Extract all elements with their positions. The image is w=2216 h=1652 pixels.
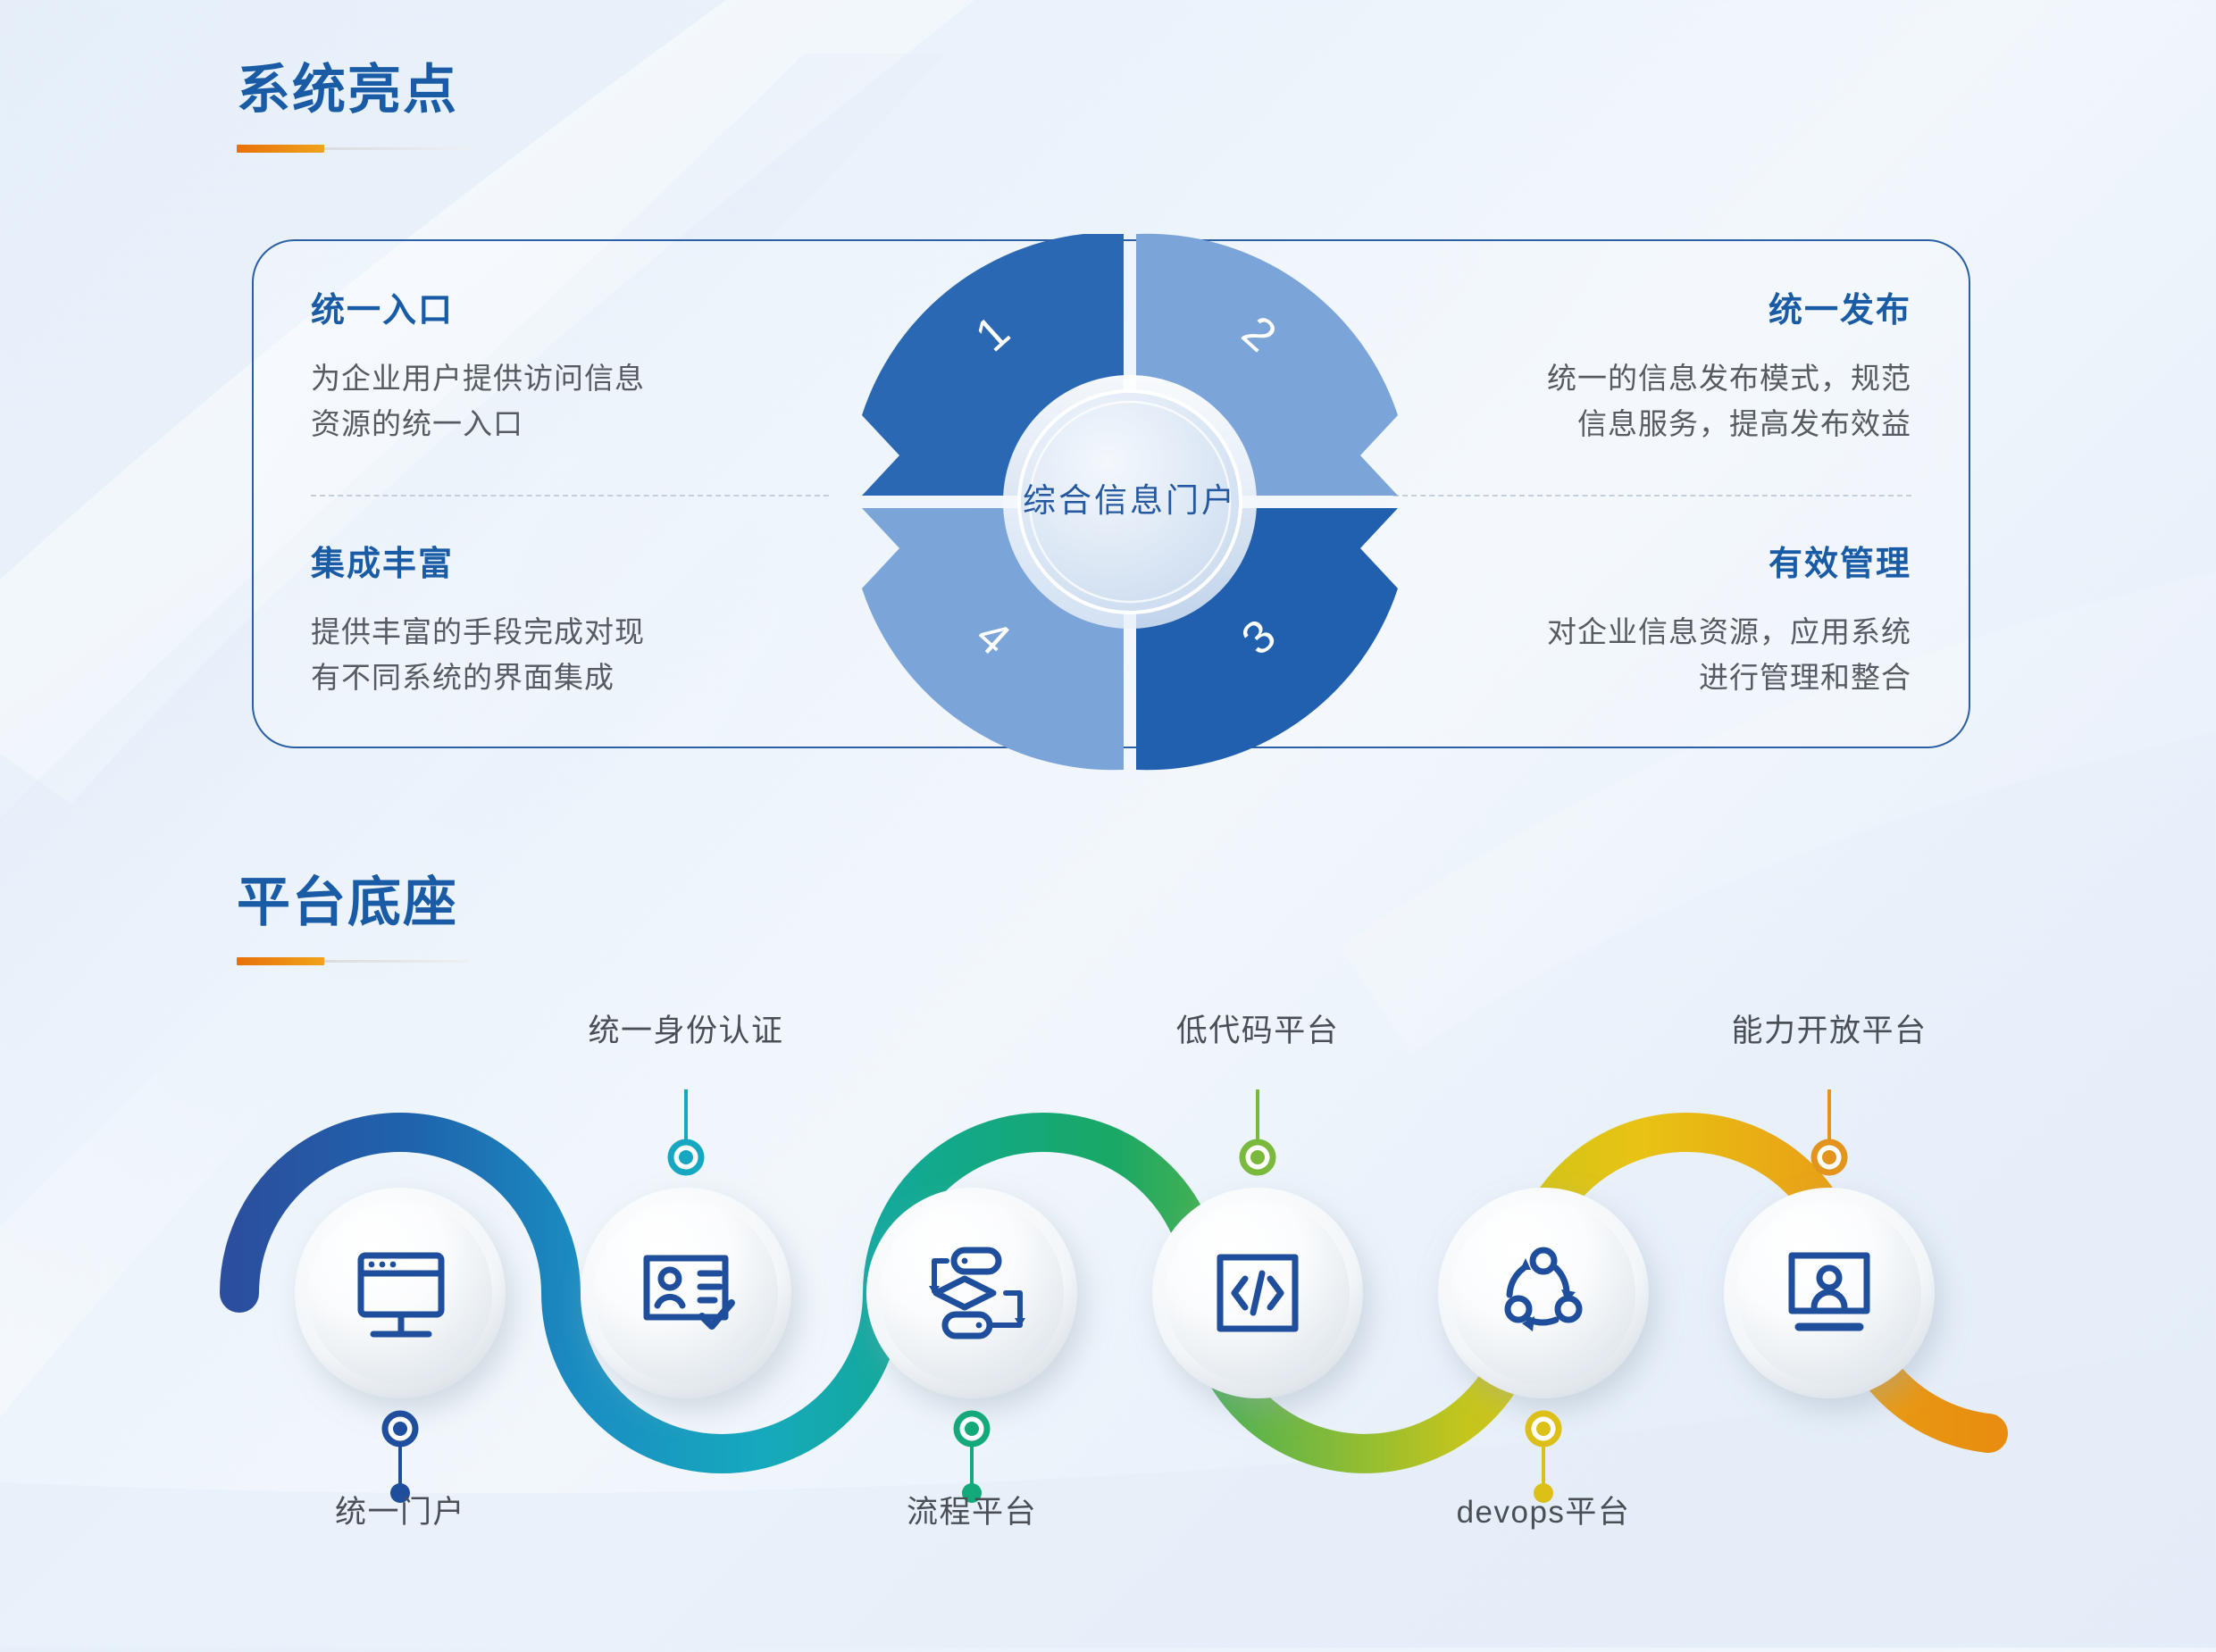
underline-tail xyxy=(324,147,469,150)
platform-node-label-3: 流程平台 xyxy=(907,1487,1037,1532)
platform-node-label-6: 能力开放平台 xyxy=(1731,1005,1927,1051)
platform-node-2[interactable] xyxy=(581,1089,791,1398)
platform-node-5[interactable] xyxy=(1438,1188,1649,1503)
highlight-desc: 统一的信息发布模式，规范 信息服务，提高发布效益 xyxy=(1411,355,1911,446)
highlight-desc-line: 对企业信息资源，应用系统 xyxy=(1411,609,1911,655)
highlight-desc: 为企业用户提供访问信息 资源的统一入口 xyxy=(311,355,811,446)
highlight-item-rich-integration: 集成丰富 提供丰富的手段完成对现 有不同系统的界面集成 xyxy=(311,545,811,700)
platform-wave-svg xyxy=(0,982,2216,1648)
highlight-title: 统一发布 xyxy=(1411,291,1911,332)
highlight-desc-line: 统一的信息发布模式，规范 xyxy=(1411,355,1911,401)
section-head-platform: 平台底座 xyxy=(237,873,469,965)
node-bubble-inner xyxy=(880,1201,1064,1385)
highlight-item-unified-entry: 统一入口 为企业用户提供访问信息 资源的统一入口 xyxy=(311,291,811,446)
highlight-title: 集成丰富 xyxy=(311,545,811,586)
page-title: 系统亮点 xyxy=(237,61,469,120)
section-title-platform: 平台底座 xyxy=(237,873,469,932)
node-connector-2 xyxy=(671,1089,701,1172)
highlight-item-unified-publish: 统一发布 统一的信息发布模式，规范 信息服务，提高发布效益 xyxy=(1411,291,1911,446)
cycle-center-label: 综合信息门户 xyxy=(853,473,1407,521)
node-bubble-inner xyxy=(594,1201,778,1385)
highlight-desc-line: 进行管理和整合 xyxy=(1411,655,1911,700)
platform-node-label-1: 统一门户 xyxy=(335,1487,465,1532)
cycle-diagram: 1 2 3 4 综合信息门户 xyxy=(853,225,1407,779)
platform-node-label-5: devops平台 xyxy=(1457,1487,1631,1532)
highlight-desc-line: 提供丰富的手段完成对现 xyxy=(311,609,811,655)
node-bubble-inner xyxy=(1451,1201,1635,1385)
title-underline xyxy=(237,145,469,153)
node-connector-4 xyxy=(1242,1089,1273,1172)
platform-node-1[interactable] xyxy=(295,1188,506,1503)
section-head-highlights: 系统亮点 xyxy=(237,61,469,153)
highlight-desc-line: 信息服务，提高发布效益 xyxy=(1411,401,1911,446)
highlight-item-effective-management: 有效管理 对企业信息资源，应用系统 进行管理和整合 xyxy=(1411,545,1911,700)
highlight-desc-line: 资源的统一入口 xyxy=(311,401,811,446)
platform-node-label-4: 低代码平台 xyxy=(1176,1005,1340,1051)
underline-tail xyxy=(324,960,469,963)
highlight-desc: 对企业信息资源，应用系统 进行管理和整合 xyxy=(1411,609,1911,700)
underline-accent-bar xyxy=(237,145,324,153)
platform-node-label-2: 统一身份认证 xyxy=(588,1005,783,1051)
highlight-desc: 提供丰富的手段完成对现 有不同系统的界面集成 xyxy=(311,609,811,700)
highlight-title: 统一入口 xyxy=(311,291,811,332)
title-underline xyxy=(237,957,469,965)
platform-node-3[interactable] xyxy=(866,1188,1077,1503)
node-bubble-inner xyxy=(308,1201,492,1385)
platform-node-4[interactable] xyxy=(1152,1089,1363,1398)
highlight-desc-line: 有不同系统的界面集成 xyxy=(311,655,811,700)
divider-right xyxy=(1393,495,1911,496)
underline-accent-bar xyxy=(237,957,324,965)
highlight-desc-line: 为企业用户提供访问信息 xyxy=(311,355,811,401)
platform-wave: 统一门户 统一身份认证 流程平台 低代码平台 devops平台 能力开放平台 xyxy=(0,982,2216,1648)
highlight-title: 有效管理 xyxy=(1411,545,1911,586)
divider-left xyxy=(311,495,829,496)
node-connector-6 xyxy=(1814,1089,1844,1172)
